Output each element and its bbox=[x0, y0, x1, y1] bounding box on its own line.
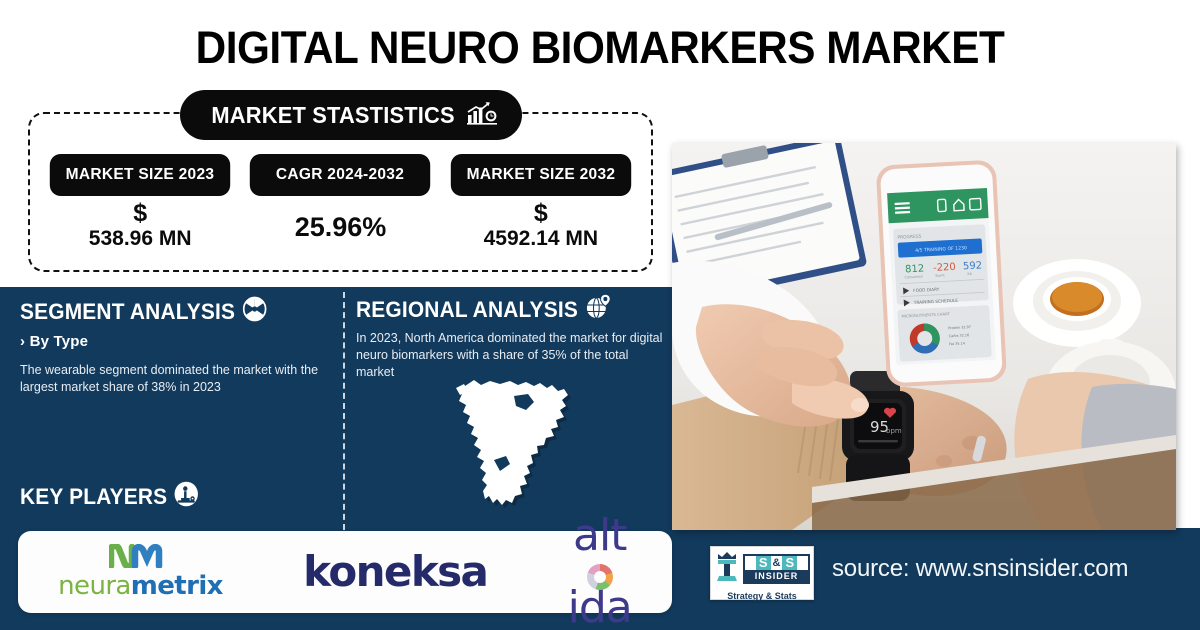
market-statistics-label: MARKET STASTISTICS bbox=[211, 102, 454, 129]
svg-text:Burnt: Burnt bbox=[935, 273, 945, 278]
svg-text:Fat 35.14: Fat 35.14 bbox=[949, 341, 965, 346]
column-divider bbox=[343, 292, 345, 530]
neurametrix-mark-icon bbox=[109, 544, 171, 573]
regional-analysis-label: REGIONAL ANALYSIS bbox=[356, 297, 578, 323]
svg-text:592: 592 bbox=[963, 260, 983, 272]
key-players-heading: KEY PLAYERS bbox=[20, 481, 199, 513]
key-players-logo-strip: neurametrix koneksa alt ida bbox=[18, 531, 672, 613]
segment-analysis-heading: SEGMENT ANALYSIS bbox=[20, 296, 267, 328]
logo-neurametrix[interactable]: neurametrix bbox=[58, 544, 223, 600]
brand-tagline: Strategy & Stats bbox=[711, 590, 813, 605]
stat-col-market-size-2023: MARKET SIZE 2023 $ 538.96 MN bbox=[40, 154, 240, 264]
stat-label-market-size-2023: MARKET SIZE 2023 bbox=[50, 154, 230, 196]
brand-letter-s-right: S bbox=[782, 556, 797, 570]
brand-ampersand: & bbox=[773, 556, 781, 570]
neurametrix-wordmark: neurametrix bbox=[58, 573, 223, 600]
sns-insider-badge: S & S INSIDER bbox=[743, 554, 810, 584]
stat-label-market-size-2032: MARKET SIZE 2032 bbox=[451, 154, 631, 196]
hero-photo: 95 bpm bbox=[672, 143, 1176, 530]
svg-text:PROGRESS: PROGRESS bbox=[897, 234, 921, 241]
svg-text:-220: -220 bbox=[933, 262, 956, 274]
brand-letter-s-left: S bbox=[756, 556, 771, 570]
infographic-page: DIGITAL NEURO BIOMARKERS MARKET MARKET S… bbox=[0, 0, 1200, 630]
segment-pie-icon bbox=[242, 296, 267, 328]
currency-symbol-2032: $ bbox=[484, 201, 598, 226]
bar-chart-growth-icon bbox=[467, 101, 497, 130]
logo-altoida[interactable]: alt ida bbox=[568, 513, 632, 630]
logo-koneksa[interactable]: koneksa bbox=[303, 550, 487, 594]
sns-insider-logo: S & S INSIDER Strategy & Stats bbox=[710, 546, 814, 600]
currency-symbol-2023: $ bbox=[89, 201, 192, 226]
regional-analysis-heading: REGIONAL ANALYSIS bbox=[356, 293, 611, 327]
podium-person-icon bbox=[174, 481, 199, 513]
stat-col-market-size-2032: MARKET SIZE 2032 $ 4592.14 MN bbox=[441, 154, 641, 264]
neurametrix-part2: metrix bbox=[131, 571, 223, 601]
stat-col-cagr: CAGR 2024-2032 25.96% bbox=[240, 154, 440, 264]
stat-amount-2032: 4592.14 MN bbox=[484, 227, 598, 250]
sns-insider-crown-icon bbox=[714, 549, 740, 588]
segment-body-text: The wearable segment dominated the marke… bbox=[20, 362, 320, 396]
source-url: source: www.snsinsider.com bbox=[832, 555, 1128, 583]
page-title: DIGITAL NEURO BIOMARKERS MARKET bbox=[36, 22, 1164, 74]
svg-text:bpm: bpm bbox=[886, 427, 902, 435]
altoida-part2: ida bbox=[568, 585, 632, 630]
stat-amount-2023: 538.96 MN bbox=[89, 227, 192, 250]
altoida-part1: alt bbox=[573, 513, 626, 559]
altoida-ring-icon bbox=[587, 564, 613, 590]
stat-value-market-size-2032: $ 4592.14 MN bbox=[484, 201, 598, 251]
brand-insider-label: INSIDER bbox=[745, 570, 808, 582]
globe-pin-icon bbox=[585, 293, 612, 327]
market-statistics-title-pill: MARKET STASTISTICS bbox=[180, 90, 522, 140]
segment-analysis-label: SEGMENT ANALYSIS bbox=[20, 299, 235, 325]
neurametrix-part1: neura bbox=[58, 571, 131, 601]
koneksa-wordmark: koneksa bbox=[303, 550, 487, 594]
north-america-map bbox=[448, 372, 598, 527]
stat-value-cagr: 25.96% bbox=[295, 201, 387, 240]
segment-subheading: › By Type bbox=[20, 333, 88, 350]
key-players-label: KEY PLAYERS bbox=[20, 484, 167, 510]
stat-value-market-size-2023: $ 538.96 MN bbox=[89, 201, 192, 251]
stat-label-cagr: CAGR 2024-2032 bbox=[250, 154, 430, 196]
